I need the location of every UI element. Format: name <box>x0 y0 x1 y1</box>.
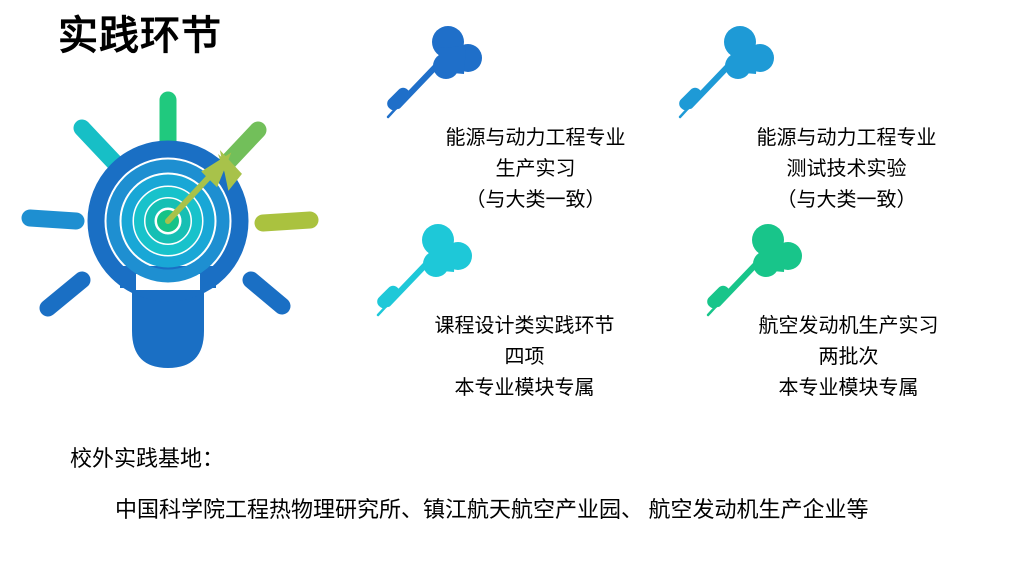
label-line: 本专业模块专属 <box>716 373 981 404</box>
label-line: 四项 <box>392 342 657 373</box>
list-item: 航空发动机生产实习 两批次 本专业模块专属 <box>688 218 988 408</box>
label-line: （与大类一致） <box>714 185 979 216</box>
label-line: 本专业模块专属 <box>392 373 657 404</box>
label-line: 测试技术实验 <box>714 154 979 185</box>
list-item: 课程设计类实践环节 四项 本专业模块专属 <box>370 218 670 408</box>
list-item-label: 课程设计类实践环节 四项 本专业模块专属 <box>392 311 657 404</box>
list-item-label: 航空发动机生产实习 两批次 本专业模块专属 <box>716 311 981 404</box>
dart-icon <box>700 218 810 323</box>
list-item: 能源与动力工程专业 生产实习 （与大类一致） <box>375 20 675 215</box>
page-title: 实践环节 <box>58 12 222 60</box>
label-line: 两批次 <box>716 342 981 373</box>
label-line: 航空发动机生产实习 <box>716 311 981 342</box>
lightbulb-target-icon <box>20 88 350 398</box>
dart-icon <box>380 20 490 125</box>
label-line: 能源与动力工程专业 <box>714 123 979 154</box>
label-line: 生产实习 <box>403 154 668 185</box>
slide-canvas: 实践环节 <box>0 0 1024 575</box>
footer-detail: 中国科学院工程热物理研究所、镇江航天航空产业园、 航空发动机生产企业等 <box>115 495 869 525</box>
footer-heading: 校外实践基地： <box>70 444 224 474</box>
label-line: 课程设计类实践环节 <box>392 311 657 342</box>
list-item-label: 能源与动力工程专业 生产实习 （与大类一致） <box>403 123 668 216</box>
list-item-label: 能源与动力工程专业 测试技术实验 （与大类一致） <box>714 123 979 216</box>
label-line: 能源与动力工程专业 <box>403 123 668 154</box>
label-line: （与大类一致） <box>403 185 668 216</box>
dart-icon <box>672 20 782 125</box>
list-item: 能源与动力工程专业 测试技术实验 （与大类一致） <box>672 20 972 215</box>
dart-icon <box>370 218 480 323</box>
